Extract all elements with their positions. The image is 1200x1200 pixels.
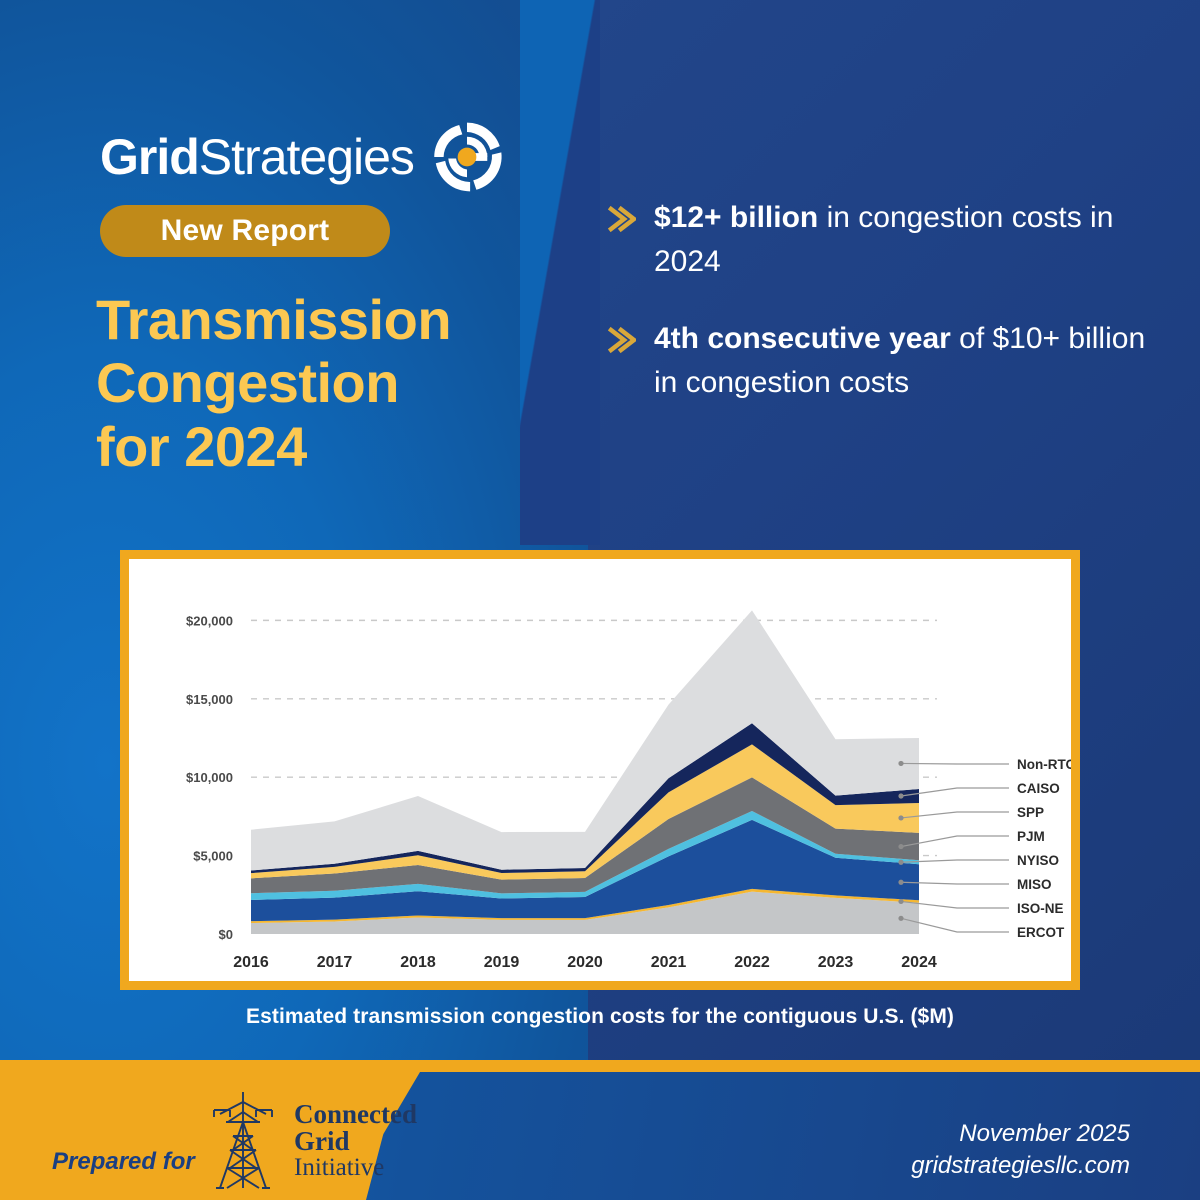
legend-label-caiso: CAISO (1017, 781, 1060, 796)
partner-line-2: Grid (294, 1128, 417, 1155)
legend-anchor-dot (898, 899, 903, 904)
prepared-for-label: Prepared for (52, 1148, 195, 1176)
transmission-tower-icon (200, 1088, 286, 1192)
list-item-text: $12+ billion in congestion costs in 2024 (654, 196, 1148, 283)
website-url[interactable]: gridstrategiesllc.com (911, 1150, 1130, 1182)
legend-anchor-dot (898, 761, 903, 766)
x-axis-tick-label: 2024 (901, 954, 937, 971)
double-chevron-icon (608, 196, 636, 283)
infographic-canvas: GridStrategies New Report Transmission C… (0, 0, 1200, 1200)
chart-caption: Estimated transmission congestion costs … (0, 1005, 1200, 1029)
x-axis-tick-label: 2019 (484, 954, 520, 971)
page-title-line-1: Transmission (96, 288, 566, 351)
legend-anchor-dot (898, 916, 903, 921)
legend-anchor-dot (898, 860, 903, 865)
legend-label-spp: SPP (1017, 805, 1044, 820)
stacked-area-chart: $0$5,000$10,000$15,000$20,00020162017201… (129, 559, 1071, 981)
x-axis-tick-label: 2017 (317, 954, 353, 971)
legend-label-non-rto: Non-RTO (1017, 757, 1071, 772)
page-title: Transmission Congestion for 2024 (96, 288, 566, 478)
legend-label-iso-ne: ISO-NE (1017, 901, 1064, 916)
page-title-line-2: Congestion (96, 351, 566, 414)
grid-strategies-g-mark-icon (428, 118, 506, 196)
grid-strategies-logo: GridStrategies (100, 118, 506, 196)
legend-anchor-dot (898, 815, 903, 820)
chart-panel: $0$5,000$10,000$15,000$20,00020162017201… (120, 550, 1080, 990)
key-findings-list: $12+ billion in congestion costs in 2024… (608, 196, 1148, 438)
legend-label-nyiso: NYISO (1017, 853, 1059, 868)
list-item-text: 4th consecutive year of $10+ billion in … (654, 317, 1148, 404)
new-report-badge: New Report (100, 205, 390, 257)
connected-grid-initiative-logo: Connected Grid Initiative (200, 1088, 417, 1192)
y-axis-tick-label: $15,000 (186, 692, 233, 707)
x-axis-tick-label: 2016 (233, 954, 269, 971)
legend-label-ercot: ERCOT (1017, 925, 1065, 940)
y-axis-tick-label: $5,000 (193, 849, 233, 864)
publication-date: November 2025 (911, 1118, 1130, 1150)
new-report-badge-label: New Report (161, 214, 330, 248)
legend-anchor-dot (898, 880, 903, 885)
x-axis-tick-label: 2021 (651, 954, 687, 971)
x-axis-tick-label: 2022 (734, 954, 770, 971)
chart-plot-background: $0$5,000$10,000$15,000$20,00020162017201… (129, 559, 1071, 981)
partner-line-3: Initiative (294, 1155, 417, 1180)
x-axis-tick-label: 2018 (400, 954, 436, 971)
logo-word-grid: Grid (100, 129, 199, 185)
page-title-line-3: for 2024 (96, 415, 566, 478)
logo-word-strategies: Strategies (199, 129, 414, 185)
legend-leader-line (901, 763, 1009, 764)
logo-wordmark: GridStrategies (100, 132, 414, 182)
list-item-emphasis: $12+ billion (654, 201, 818, 234)
legend-anchor-dot (898, 793, 903, 798)
list-item: 4th consecutive year of $10+ billion in … (608, 317, 1148, 404)
legend-label-miso: MISO (1017, 877, 1052, 892)
list-item: $12+ billion in congestion costs in 2024 (608, 196, 1148, 283)
footer-meta: November 2025 gridstrategiesllc.com (911, 1118, 1130, 1183)
partner-line-1: Connected (294, 1101, 417, 1128)
legend-anchor-dot (898, 844, 903, 849)
partner-name: Connected Grid Initiative (294, 1101, 417, 1180)
double-chevron-icon (608, 317, 636, 404)
y-axis-tick-label: $0 (219, 927, 233, 942)
list-item-emphasis: 4th consecutive year (654, 322, 951, 355)
x-axis-tick-label: 2020 (567, 954, 603, 971)
x-axis-tick-label: 2023 (818, 954, 854, 971)
y-axis-tick-label: $20,000 (186, 613, 233, 628)
gold-divider-band (0, 1060, 1200, 1072)
legend-label-pjm: PJM (1017, 829, 1045, 844)
y-axis-tick-label: $10,000 (186, 770, 233, 785)
